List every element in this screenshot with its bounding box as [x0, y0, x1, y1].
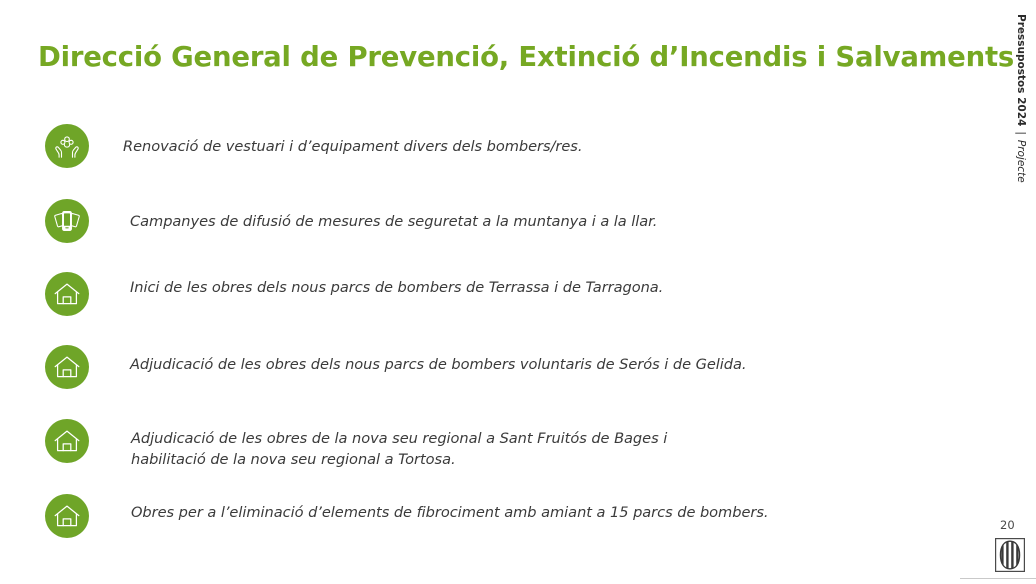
page-number: 20	[1000, 518, 1015, 532]
side-caption-subtitle: Projecte	[1015, 140, 1027, 183]
house-icon	[45, 345, 89, 389]
bullet-text: Adjudicació de les obres dels nous parcs…	[130, 354, 870, 375]
house-icon	[45, 494, 89, 538]
bullet-text: Inici de les obres dels nous parcs de bo…	[130, 277, 830, 298]
bullet-text: Obres per a l’eliminació d’elements de f…	[131, 502, 871, 523]
hands-holding-people-icon	[45, 124, 89, 168]
bullet-text: Adjudicació de les obres de la nova seu …	[131, 428, 831, 470]
side-caption: Pressupostos 2024|Projecte	[1009, 14, 1031, 254]
generalitat-de-catalunya-shield-icon	[995, 538, 1025, 572]
bullet-text: Campanyes de difusió de mesures de segur…	[130, 211, 770, 232]
side-caption-separator: |	[1015, 126, 1027, 140]
bullet-text: Renovació de vestuari i d’equipament div…	[123, 136, 763, 157]
side-caption-title: Pressupostos 2024	[1015, 14, 1027, 126]
bullet-list: Renovació de vestuari i d’equipament div…	[0, 0, 960, 584]
footer-divider	[960, 578, 1036, 579]
mobile-campaign-icon	[45, 199, 89, 243]
house-icon	[45, 419, 89, 463]
slide-canvas: Direcció General de Prevenció, Extinció …	[0, 0, 1036, 584]
house-icon	[45, 272, 89, 316]
